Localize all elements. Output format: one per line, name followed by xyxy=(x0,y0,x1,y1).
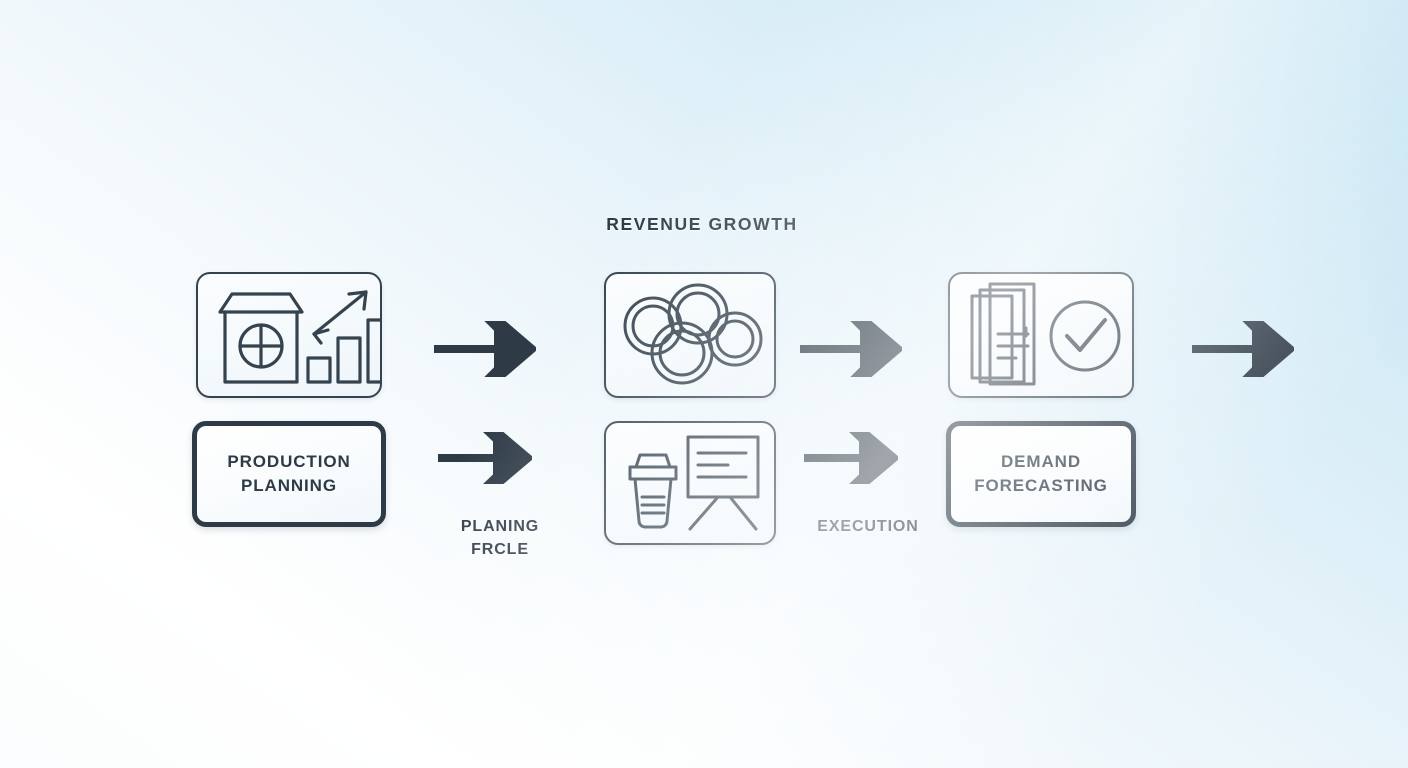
label-box-production-planning-text: PRODUCTION PLANNING xyxy=(227,450,350,498)
diagram-title-text: REVENUE GROWTH xyxy=(606,214,798,235)
label-box-demand-forecasting-text: DEMAND FORECASTING xyxy=(974,450,1108,498)
storefront-bar-chart-growth-icon xyxy=(198,274,380,396)
diagram-title: REVENUE GROWTH xyxy=(0,214,1408,235)
label-box-production-planning[interactable]: PRODUCTION PLANNING xyxy=(192,421,386,527)
arrow-top-1-icon xyxy=(432,318,536,380)
icon-card-documents-approved[interactable] xyxy=(948,272,1134,398)
icon-card-overlapping-rings[interactable] xyxy=(604,272,776,398)
icon-card-cup-presentation[interactable] xyxy=(604,421,776,545)
connector-label-execution-text: EXECUTION xyxy=(817,518,918,535)
documents-checkmark-icon xyxy=(950,274,1132,396)
arrow-top-3-icon xyxy=(1190,318,1294,380)
arrow-top-2-icon xyxy=(798,318,902,380)
label-box-demand-forecasting[interactable]: DEMAND FORECASTING xyxy=(946,421,1136,527)
diagram-canvas: REVENUE GROWTH xyxy=(0,0,1408,768)
connector-label-execution: EXECUTION xyxy=(788,492,948,538)
overlapping-rings-icon xyxy=(606,274,774,396)
connector-label-planning-cycle-text: PLANING FRCLE xyxy=(461,518,539,558)
arrow-bottom-2-icon xyxy=(802,430,898,486)
cup-presentation-board-icon xyxy=(606,423,774,543)
connector-label-planning-cycle: PLANING FRCLE xyxy=(420,492,580,562)
arrow-bottom-1-icon xyxy=(436,430,532,486)
icon-card-storefront-growth[interactable] xyxy=(196,272,382,398)
